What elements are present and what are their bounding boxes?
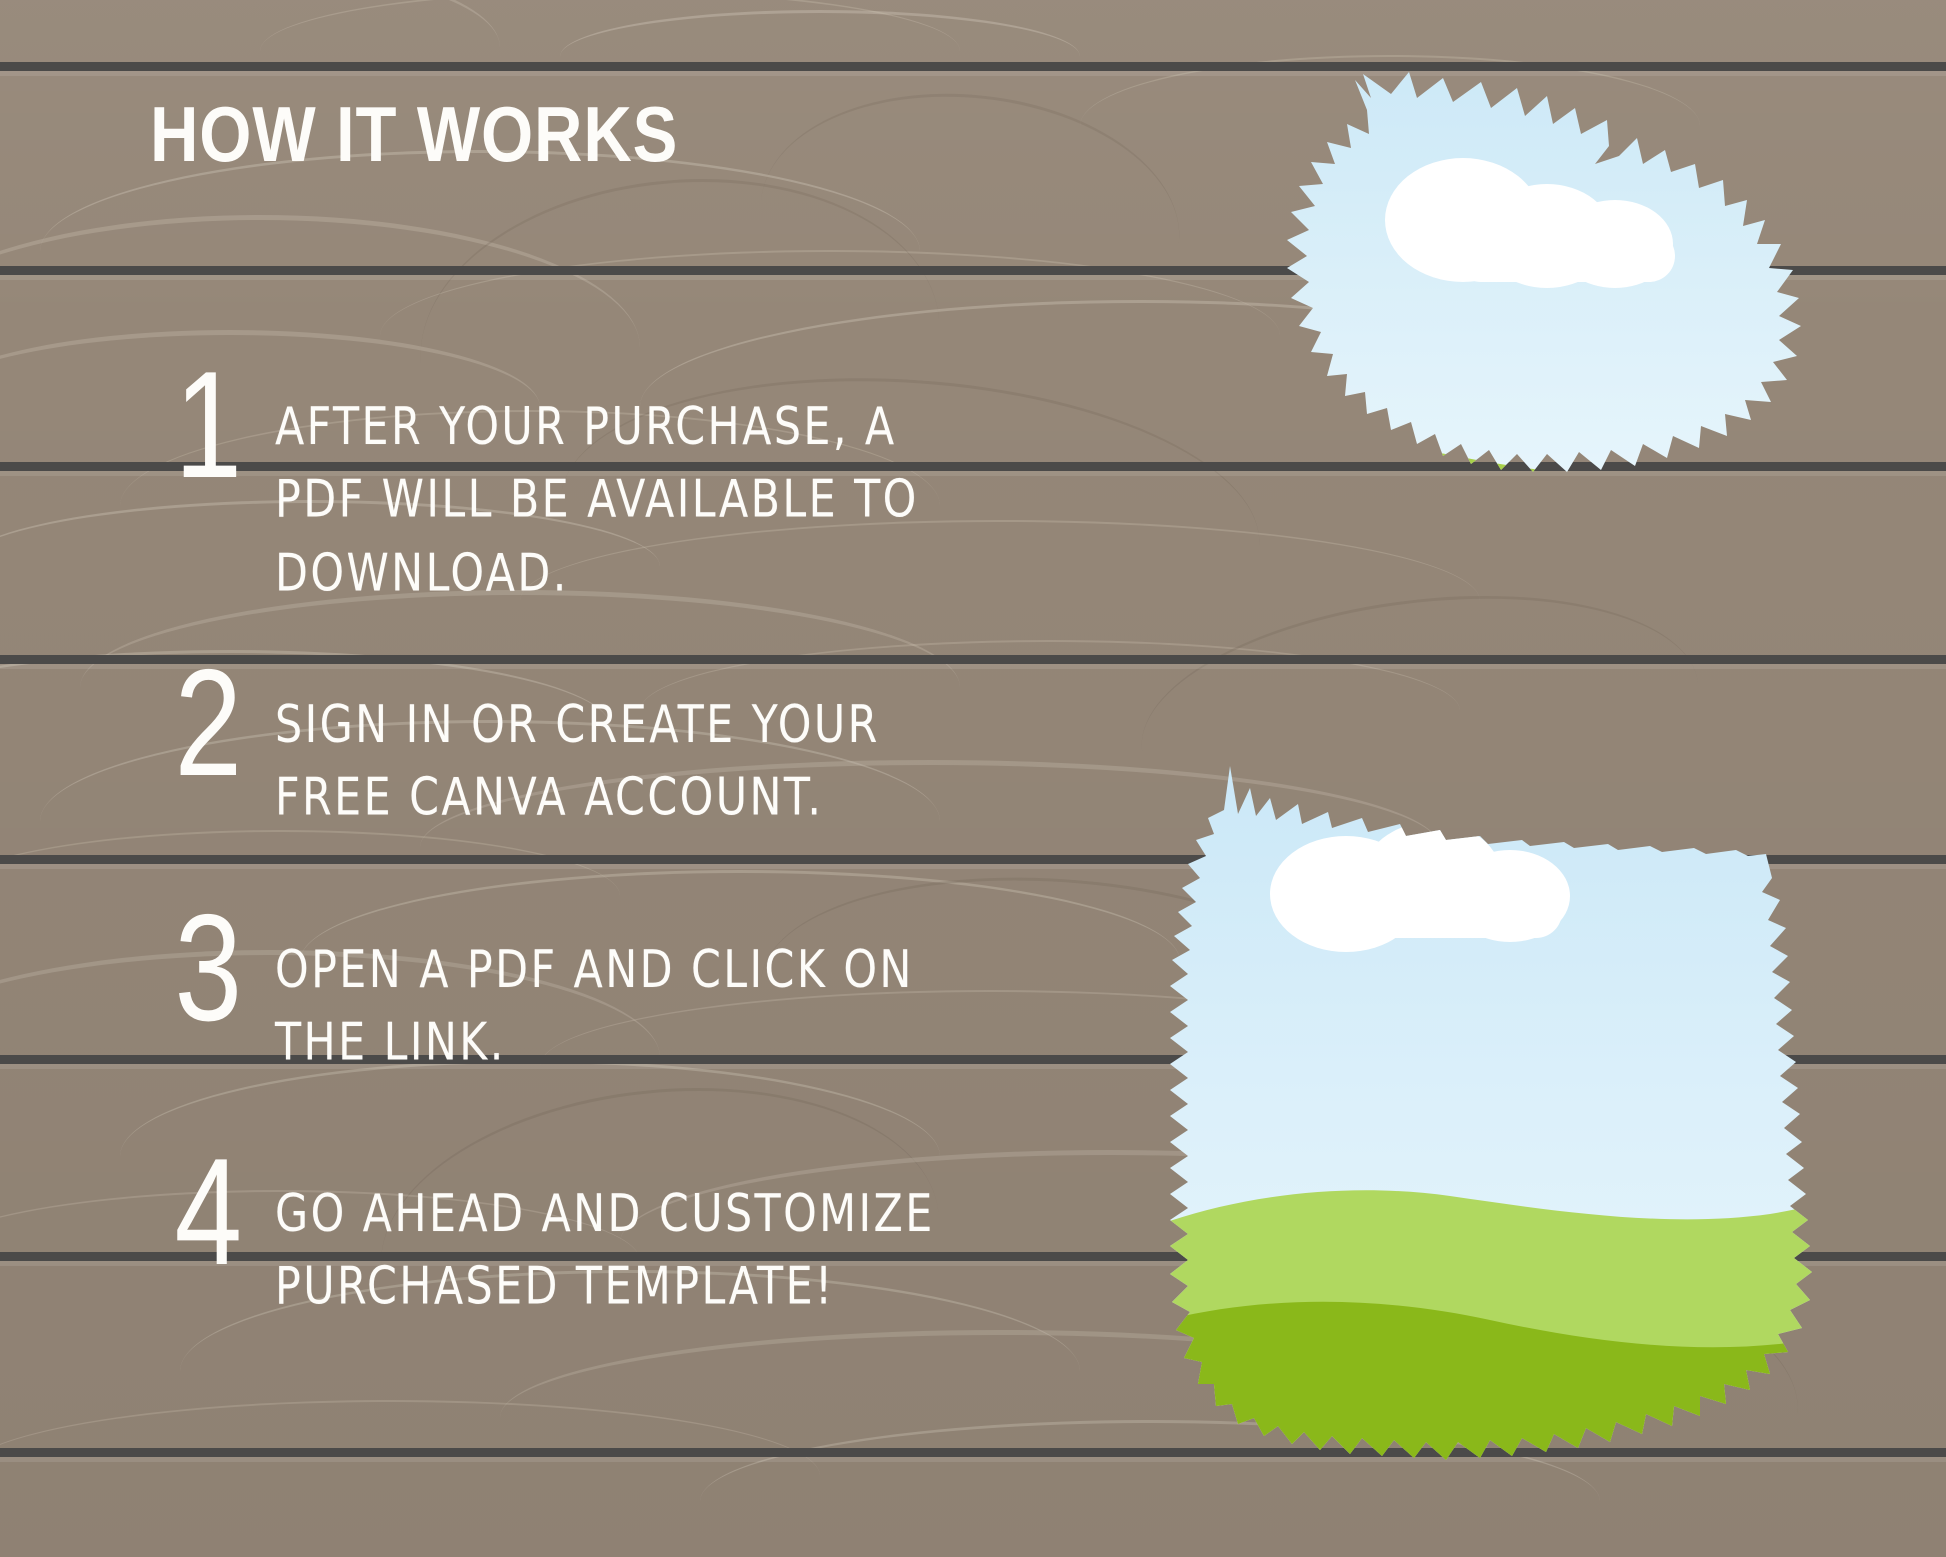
step-number-1: 1 [154,356,262,496]
step-item-4: 4 GO AHEAD AND CUSTOMIZE PURCHASED TEMPL… [140,1157,1020,1306]
page-title: HOW IT WORKS [150,95,678,173]
step-text-4: GO AHEAD AND CUSTOMIZE PURCHASED TEMPLAT… [275,1157,968,1323]
step-text-3: OPEN A PDF AND CLICK ON THE LINK. [275,913,968,1079]
step-number-4: 4 [154,1143,262,1283]
step-number-3: 3 [154,899,262,1039]
steps-list: 1 AFTER YOUR PURCHASE, A PDF WILL BE AVA… [140,370,1020,1358]
step-text-1: AFTER YOUR PURCHASE, A PDF WILL BE AVAIL… [275,370,968,610]
step-text-2: SIGN IN OR CREATE YOUR FREE CANVA ACCOUN… [275,668,968,834]
step-item-1: 1 AFTER YOUR PURCHASE, A PDF WILL BE AVA… [140,370,1020,584]
step-item-3: 3 OPEN A PDF AND CLICK ON THE LINK. [140,913,1020,1062]
step-number-2: 2 [154,654,262,794]
heart-shaped-landscape-image [1195,68,1835,628]
infographic-canvas: HOW IT WORKS 1 AFTER YOUR PURCHASE, A PD… [0,0,1946,1557]
brush-square-landscape-image [1150,728,1840,1498]
step-item-2: 2 SIGN IN OR CREATE YOUR FREE CANVA ACCO… [140,668,1020,817]
